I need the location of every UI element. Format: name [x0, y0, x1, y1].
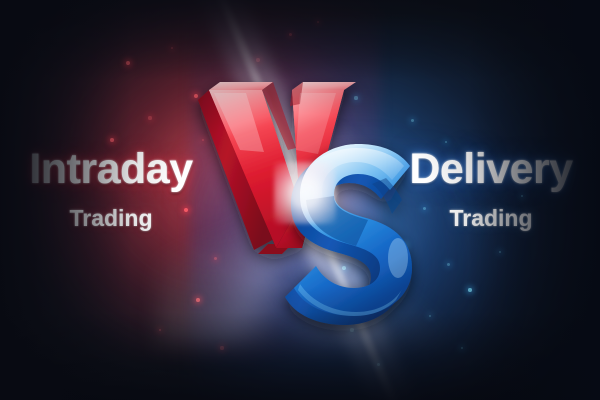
left-subline: Trading — [6, 207, 216, 230]
left-label-group: Intraday Trading — [6, 148, 216, 230]
right-subline: Trading — [386, 207, 596, 230]
right-headline: Delivery — [386, 148, 596, 191]
poster-graphic: Intraday Trading Delivery Trading — [0, 0, 600, 400]
right-label-group: Delivery Trading — [386, 148, 596, 230]
left-headline: Intraday — [6, 148, 216, 191]
